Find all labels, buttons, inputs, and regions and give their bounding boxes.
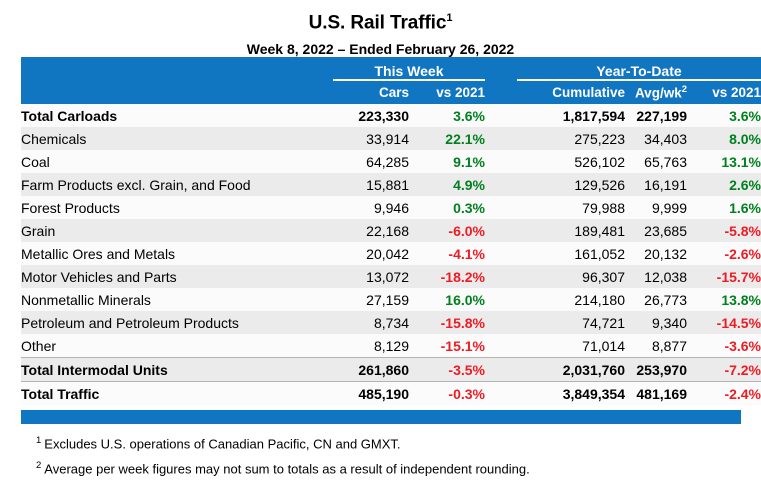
cell-vs-2021-ytd: 13.1% [695, 150, 761, 173]
cell-cars: 64,285 [333, 150, 409, 173]
footnotes-block: 1Excludes U.S. operations of Canadian Pa… [36, 430, 736, 481]
cell-avg-wk: 20,132 [625, 242, 687, 265]
cell-cars: 8,129 [333, 334, 409, 358]
percent-change-value: 13.8% [721, 292, 761, 308]
percent-change-value: 13.1% [721, 154, 761, 170]
cell-spacer-2 [485, 334, 517, 358]
cell-cars: 22,168 [333, 219, 409, 242]
cell-spacer-1 [409, 311, 419, 334]
cell-spacer-1 [409, 219, 419, 242]
percent-change-value: 4.9% [453, 177, 485, 193]
footnote-marker: 1 [36, 435, 41, 446]
cell-cars: 9,946 [333, 196, 409, 219]
footnote-text: Excludes U.S. operations of Canadian Pac… [44, 436, 400, 451]
cell-spacer-2 [485, 150, 517, 173]
cell-spacer-1 [409, 173, 419, 196]
percent-change-value: -7.2% [724, 362, 761, 378]
cell-vs-2021-ytd: -2.6% [695, 242, 761, 265]
percent-change-value: -18.2% [441, 269, 485, 285]
column-header-vs-2021-week: vs 2021 [419, 80, 485, 104]
cell-vs-2021-ytd: 2.6% [695, 173, 761, 196]
title-block: U.S. Rail Traffic1 Week 8, 2022 – Ended … [0, 0, 761, 59]
cell-spacer-1 [409, 104, 419, 127]
row-label: Total Intermodal Units [21, 358, 333, 382]
cell-cumulative: 71,014 [517, 334, 625, 358]
percent-change-value: 16.0% [445, 292, 485, 308]
cell-vs-2021-ytd: 8.0% [695, 127, 761, 150]
table-header: This Week Year-To-Date Cars vs 2021 Cumu… [21, 57, 761, 104]
row-label: Coal [21, 150, 333, 173]
table-row: Grain22,168-6.0%189,48123,685-5.8% [21, 219, 761, 242]
cell-spacer-3 [687, 127, 695, 150]
column-header-spacer-3 [687, 80, 695, 104]
cell-spacer-3 [687, 288, 695, 311]
table-row: Farm Products excl. Grain, and Food15,88… [21, 173, 761, 196]
table-row: Coal64,2859.1%526,10265,76313.1% [21, 150, 761, 173]
cell-avg-wk: 12,038 [625, 265, 687, 288]
cell-spacer-3 [687, 150, 695, 173]
percent-change-value: -5.8% [724, 223, 761, 239]
cell-vs-2021-week: -15.1% [419, 334, 485, 358]
cell-avg-wk: 9,999 [625, 196, 687, 219]
cell-spacer-3 [687, 265, 695, 288]
column-header-category [21, 80, 333, 104]
rail-traffic-table: This Week Year-To-Date Cars vs 2021 Cumu… [21, 57, 761, 405]
table-row: Motor Vehicles and Parts13,072-18.2%96,3… [21, 265, 761, 288]
cell-cars: 15,881 [333, 173, 409, 196]
table-row: Nonmetallic Minerals27,15916.0%214,18026… [21, 288, 761, 311]
percent-change-value: -4.1% [448, 246, 485, 262]
column-header-row: Cars vs 2021 Cumulative Avg/wk2 vs 2021 [21, 80, 761, 104]
group-header-blank [21, 57, 333, 80]
cell-cumulative: 2,031,760 [517, 358, 625, 382]
cell-avg-wk: 9,340 [625, 311, 687, 334]
cell-spacer-3 [687, 104, 695, 127]
cell-spacer-1 [409, 242, 419, 265]
cell-spacer-1 [409, 265, 419, 288]
table-row: Petroleum and Petroleum Products8,734-15… [21, 311, 761, 334]
cell-cumulative: 161,052 [517, 242, 625, 265]
cell-spacer-1 [409, 150, 419, 173]
row-label: Nonmetallic Minerals [21, 288, 333, 311]
cell-spacer-2 [485, 173, 517, 196]
column-header-avg-wk-text: Avg/wk [635, 86, 682, 101]
cell-spacer-3 [687, 358, 695, 382]
cell-spacer-3 [687, 311, 695, 334]
table-row: Forest Products9,9460.3%79,9889,9991.6% [21, 196, 761, 219]
percent-change-value: -2.6% [724, 246, 761, 262]
cell-spacer-3 [687, 196, 695, 219]
percent-change-value: 0.3% [453, 200, 485, 216]
table-row: Other8,129-15.1%71,0148,877-3.6% [21, 334, 761, 358]
cell-vs-2021-week: -18.2% [419, 265, 485, 288]
cell-vs-2021-ytd: 3.6% [695, 104, 761, 127]
cell-cumulative: 96,307 [517, 265, 625, 288]
percent-change-value: -15.7% [717, 269, 761, 285]
cell-spacer-3 [687, 382, 695, 406]
page-title-footnote-marker: 1 [446, 12, 452, 24]
cell-vs-2021-week: 16.0% [419, 288, 485, 311]
row-label: Forest Products [21, 196, 333, 219]
cell-vs-2021-week: -15.8% [419, 311, 485, 334]
cell-vs-2021-week: -6.0% [419, 219, 485, 242]
group-header-row: This Week Year-To-Date [21, 57, 761, 80]
row-label: Total Carloads [21, 104, 333, 127]
cell-avg-wk: 8,877 [625, 334, 687, 358]
percent-change-value: -15.1% [441, 338, 485, 354]
cell-vs-2021-ytd: -5.8% [695, 219, 761, 242]
cell-cumulative: 526,102 [517, 150, 625, 173]
table-body: Total Carloads223,3303.6%1,817,594227,19… [21, 104, 761, 405]
cell-spacer-2 [485, 104, 517, 127]
row-label: Chemicals [21, 127, 333, 150]
table-row: Total Intermodal Units261,860-3.5%2,031,… [21, 358, 761, 382]
cell-avg-wk: 253,970 [625, 358, 687, 382]
cell-spacer-2 [485, 311, 517, 334]
table-row: Total Traffic485,190-0.3%3,849,354481,16… [21, 382, 761, 406]
cell-spacer-1 [409, 288, 419, 311]
cell-cumulative: 189,481 [517, 219, 625, 242]
cell-spacer-1 [409, 127, 419, 150]
footnote-marker: 2 [36, 460, 41, 471]
cell-cumulative: 3,849,354 [517, 382, 625, 406]
cell-cumulative: 74,721 [517, 311, 625, 334]
column-header-spacer-1 [409, 80, 419, 104]
percent-change-value: 2.6% [729, 177, 761, 193]
percent-change-value: -6.0% [448, 223, 485, 239]
group-header-year-to-date: Year-To-Date [517, 57, 761, 80]
cell-spacer-2 [485, 127, 517, 150]
cell-vs-2021-ytd: -14.5% [695, 311, 761, 334]
group-header-this-week: This Week [333, 57, 485, 80]
percent-change-value: 9.1% [453, 154, 485, 170]
cell-vs-2021-ytd: -7.2% [695, 358, 761, 382]
group-header-gap [485, 57, 517, 80]
cell-spacer-3 [687, 219, 695, 242]
column-header-avg-wk: Avg/wk2 [625, 80, 687, 104]
table-row: Metallic Ores and Metals20,042-4.1%161,0… [21, 242, 761, 265]
cell-cumulative: 275,223 [517, 127, 625, 150]
footnote-text: Average per week figures may not sum to … [44, 462, 529, 477]
cell-avg-wk: 227,199 [625, 104, 687, 127]
cell-vs-2021-week: 0.3% [419, 196, 485, 219]
cell-avg-wk: 16,191 [625, 173, 687, 196]
row-label: Motor Vehicles and Parts [21, 265, 333, 288]
row-label: Petroleum and Petroleum Products [21, 311, 333, 334]
cell-vs-2021-week: -4.1% [419, 242, 485, 265]
cell-spacer-1 [409, 334, 419, 358]
cell-spacer-3 [687, 242, 695, 265]
cell-avg-wk: 26,773 [625, 288, 687, 311]
cell-vs-2021-week: -3.5% [419, 358, 485, 382]
cell-cumulative: 79,988 [517, 196, 625, 219]
cell-spacer-2 [485, 265, 517, 288]
cell-avg-wk: 481,169 [625, 382, 687, 406]
cell-vs-2021-week: 4.9% [419, 173, 485, 196]
percent-change-value: -2.4% [724, 386, 761, 402]
percent-change-value: 3.6% [729, 108, 761, 124]
page-title: U.S. Rail Traffic1 [0, 6, 761, 35]
cell-spacer-2 [485, 358, 517, 382]
percent-change-value: -3.5% [448, 362, 485, 378]
cell-cumulative: 214,180 [517, 288, 625, 311]
cell-cars: 485,190 [333, 382, 409, 406]
row-label: Grain [21, 219, 333, 242]
percent-change-value: 3.6% [453, 108, 485, 124]
cell-cars: 13,072 [333, 265, 409, 288]
percent-change-value: -3.6% [724, 338, 761, 354]
cell-spacer-2 [485, 196, 517, 219]
cell-spacer-1 [409, 196, 419, 219]
footnote-1: 1Excludes U.S. operations of Canadian Pa… [36, 430, 736, 455]
page-title-text: U.S. Rail Traffic [309, 12, 447, 33]
cell-cumulative: 129,526 [517, 173, 625, 196]
percent-change-value: -14.5% [717, 315, 761, 331]
cell-spacer-1 [409, 358, 419, 382]
cell-spacer-3 [687, 173, 695, 196]
cell-vs-2021-week: 22.1% [419, 127, 485, 150]
cell-vs-2021-ytd: 1.6% [695, 196, 761, 219]
cell-cumulative: 1,817,594 [517, 104, 625, 127]
cell-spacer-2 [485, 242, 517, 265]
percent-change-value: 8.0% [729, 131, 761, 147]
table-footer-bar [21, 410, 741, 424]
cell-cars: 8,734 [333, 311, 409, 334]
cell-vs-2021-ytd: -3.6% [695, 334, 761, 358]
column-header-vs-2021-ytd: vs 2021 [695, 80, 761, 104]
row-label: Other [21, 334, 333, 358]
footnote-2: 2Average per week figures may not sum to… [36, 455, 736, 480]
row-label: Metallic Ores and Metals [21, 242, 333, 265]
cell-cars: 33,914 [333, 127, 409, 150]
row-label: Total Traffic [21, 382, 333, 406]
percent-change-value: -0.3% [448, 386, 485, 402]
column-header-spacer-2 [485, 80, 517, 104]
cell-cars: 261,860 [333, 358, 409, 382]
cell-vs-2021-week: 9.1% [419, 150, 485, 173]
column-header-cumulative: Cumulative [517, 80, 625, 104]
table-row: Chemicals33,91422.1%275,22334,4038.0% [21, 127, 761, 150]
cell-cars: 20,042 [333, 242, 409, 265]
cell-avg-wk: 65,763 [625, 150, 687, 173]
cell-vs-2021-ytd: -15.7% [695, 265, 761, 288]
cell-spacer-1 [409, 382, 419, 406]
percent-change-value: 22.1% [445, 131, 485, 147]
cell-vs-2021-ytd: 13.8% [695, 288, 761, 311]
cell-spacer-2 [485, 219, 517, 242]
cell-cars: 27,159 [333, 288, 409, 311]
cell-vs-2021-week: -0.3% [419, 382, 485, 406]
column-header-avg-wk-footnote-marker: 2 [682, 84, 687, 95]
cell-spacer-2 [485, 382, 517, 406]
percent-change-value: -15.8% [441, 315, 485, 331]
cell-spacer-3 [687, 334, 695, 358]
cell-vs-2021-week: 3.6% [419, 104, 485, 127]
cell-cars: 223,330 [333, 104, 409, 127]
cell-avg-wk: 23,685 [625, 219, 687, 242]
table-row: Total Carloads223,3303.6%1,817,594227,19… [21, 104, 761, 127]
row-label: Farm Products excl. Grain, and Food [21, 173, 333, 196]
percent-change-value: 1.6% [729, 200, 761, 216]
cell-spacer-2 [485, 288, 517, 311]
cell-avg-wk: 34,403 [625, 127, 687, 150]
column-header-cars: Cars [333, 80, 409, 104]
cell-vs-2021-ytd: -2.4% [695, 382, 761, 406]
